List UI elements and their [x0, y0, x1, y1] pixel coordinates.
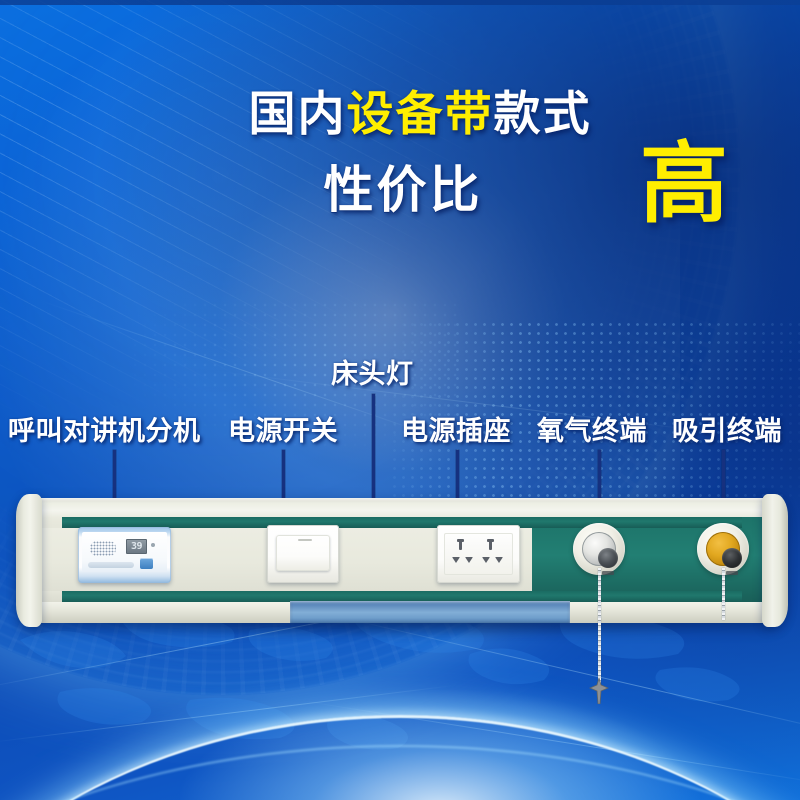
panel-body: 39: [22, 498, 782, 623]
suction-terminal-unit[interactable]: [697, 523, 749, 575]
intercom-faceplate: 39: [82, 532, 167, 572]
intercom-slot: [88, 562, 134, 568]
headline-word-value: 性价比: [324, 162, 483, 218]
globe-glow: [0, 0, 680, 580]
suction-outer-ring: [697, 523, 749, 575]
product-banner: 国内设备带款式 性价比 高 呼叫对讲机分机 电源开关 床头灯 电源插座 氧气终端…: [0, 0, 800, 800]
oxygen-terminal-unit[interactable]: [573, 523, 625, 575]
socket-pin-icon: [487, 539, 494, 542]
callout-nurse-call-intercom: 呼叫对讲机分机: [8, 418, 201, 445]
switch-notch-icon: [298, 539, 312, 541]
callout-suction-terminal: 吸引终端: [672, 418, 782, 445]
horizon-glow: [180, 690, 700, 800]
socket-pin-icon: [495, 557, 503, 563]
intercom-call-button[interactable]: [140, 558, 153, 569]
headline-word-equipment-belt: 设备带: [347, 87, 494, 140]
bed-lamp-diffuser: [290, 601, 570, 623]
speaker-grille-icon: [90, 541, 116, 556]
light-sweep-4: [300, 700, 800, 785]
headline-word-high: 高: [640, 140, 728, 228]
light-streaks-icon: [0, 0, 480, 420]
oxygen-inner-ring: [582, 532, 616, 566]
suction-label-tag: [726, 571, 738, 575]
socket-pin-icon: [452, 557, 460, 563]
power-switch-unit[interactable]: [267, 525, 339, 583]
socket-faceplate: [444, 533, 513, 575]
oxygen-port-icon: [598, 548, 618, 568]
callout-bed-lamp: 床头灯: [331, 361, 414, 388]
callout-oxygen-terminal: 氧气终端: [537, 418, 647, 445]
light-sweep-2: [320, 612, 800, 739]
headline-line-1: 国内设备带款式: [0, 90, 800, 137]
status-led-icon: [151, 543, 155, 547]
panel-stripe-bottom: [62, 591, 742, 602]
oxygen-outer-ring: [573, 523, 625, 575]
halftone-dots-right: [390, 320, 800, 500]
light-sweep-3: [0, 685, 457, 743]
suction-port-icon: [722, 548, 742, 568]
headline-line-2: 性价比: [0, 165, 800, 215]
socket-pin-icon: [482, 557, 490, 563]
callout-power-switch: 电源开关: [228, 418, 338, 445]
headline-word-domestic: 国内: [249, 87, 347, 140]
top-edge-bar: [0, 0, 800, 5]
bedhead-panel: 39: [22, 498, 782, 630]
oxygen-label-tag: [602, 571, 614, 575]
world-map-graphic: [0, 600, 800, 800]
socket-pin-icon: [457, 539, 464, 542]
background-gradient: [0, 0, 800, 800]
socket-pin-icon: [465, 557, 473, 563]
oxygen-chain-plug-icon: [588, 678, 610, 704]
headline-word-style: 款式: [494, 87, 592, 140]
switch-rocker[interactable]: [276, 535, 330, 571]
socket-pin-icon: [489, 541, 492, 550]
intercom-display: 39: [126, 539, 147, 554]
horizon-arc-secondary: [0, 745, 800, 800]
callout-power-socket: 电源插座: [401, 418, 511, 445]
suction-inner-ring: [706, 532, 740, 566]
panel-lower-rail: [22, 602, 782, 623]
power-socket-unit[interactable]: [437, 525, 520, 583]
nurse-call-intercom-unit[interactable]: 39: [78, 527, 171, 583]
socket-pin-icon: [459, 541, 462, 550]
background-vignette: [0, 0, 800, 800]
horizon-arc: [0, 715, 800, 800]
